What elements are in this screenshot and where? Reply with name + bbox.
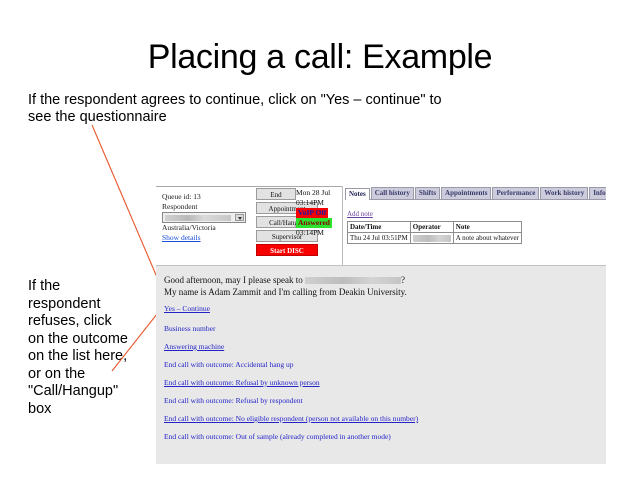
respondent-select[interactable] [162,212,246,223]
cell-note: A note about whatever [453,233,521,244]
callout-text-left: If the respondent refuses, click on the … [28,278,128,418]
outcome-refusal-unknown-person[interactable]: End call with outcome: Refusal by unknow… [164,378,606,387]
col-note: Note [453,222,521,233]
status-time-bottom: 03:14PM [296,228,344,238]
tab-info[interactable]: Info [589,187,606,199]
outcome-no-eligible-respondent[interactable]: End call with outcome: No eligible respo… [164,414,606,423]
table-header-row: Date/Time Operator Note [348,222,522,233]
respondent-value-redacted [165,215,231,221]
outcome-refusal-respondent[interactable]: End call with outcome: Refusal by respon… [164,396,606,405]
end-button[interactable]: End [256,188,296,200]
table-row[interactable]: Thu 24 Jul 03:51PM A note about whatever [348,233,522,244]
chevron-down-icon[interactable] [235,214,244,221]
tab-shifts[interactable]: Shifts [415,187,440,199]
script-line-1: Good afternoon, may I please speak to ? [164,274,606,286]
call-status-column: Mon 28 Jul 03:14PM VoIP Off Answered 03:… [296,188,344,238]
application-screenshot: Queue id: 13 Respondent Australia/Victor… [156,186,606,464]
tab-call-history[interactable]: Call history [371,187,414,199]
voip-status-badge: VoIP Off [296,208,328,218]
col-datetime: Date/Time [348,222,411,233]
page-title: Placing a call: Example [0,38,640,77]
show-details-link[interactable]: Show details [162,233,201,242]
respondent-name-redacted [305,277,401,284]
operator-redacted [413,235,451,242]
call-script-text: Good afternoon, may I please speak to ? … [156,266,606,298]
tab-appointments[interactable]: Appointments [441,187,491,199]
outcome-yes-continue[interactable]: Yes – Continue [164,304,606,313]
answered-status-badge: Answered [296,218,332,228]
tab-bar: Notes Call history Shifts Appointments P… [345,186,606,200]
outcome-answering-machine[interactable]: Answering machine [164,342,606,351]
col-operator: Operator [410,222,453,233]
status-time-top: 03:14PM [296,198,344,208]
status-date: Mon 28 Jul [296,188,344,198]
script-line-1-text: Good afternoon, may I please speak to [164,275,303,285]
outcome-out-of-sample[interactable]: End call with outcome: Out of sample (al… [164,432,606,441]
notes-table: Date/Time Operator Note Thu 24 Jul 03:51… [347,221,522,244]
script-and-outcomes-area: Good afternoon, may I please speak to ? … [156,265,606,464]
script-line-2: My name is Adam Zammit and I'm calling f… [164,286,606,298]
script-line-1-tail: ? [401,275,405,285]
app-top-region: Queue id: 13 Respondent Australia/Victor… [156,186,606,265]
tab-notes[interactable]: Notes [345,188,370,200]
notes-panel: Notes Call history Shifts Appointments P… [342,186,606,265]
outcome-link-list: Yes – Continue Business number Answering… [156,298,606,441]
add-note-link[interactable]: Add note [347,210,373,218]
notes-body: Add note Date/Time Operator Note Thu 24 … [343,200,606,244]
start-disc-button[interactable]: Start DISC [256,244,318,256]
tab-work-history[interactable]: Work history [540,187,588,199]
cell-operator [410,233,453,244]
outcome-accidental-hangup[interactable]: End call with outcome: Accidental hang u… [164,360,606,369]
cell-datetime: Thu 24 Jul 03:51PM [348,233,411,244]
callout-text-top: If the respondent agrees to continue, cl… [28,92,458,126]
tab-performance[interactable]: Performance [492,187,539,199]
outcome-business-number[interactable]: Business number [164,324,606,333]
